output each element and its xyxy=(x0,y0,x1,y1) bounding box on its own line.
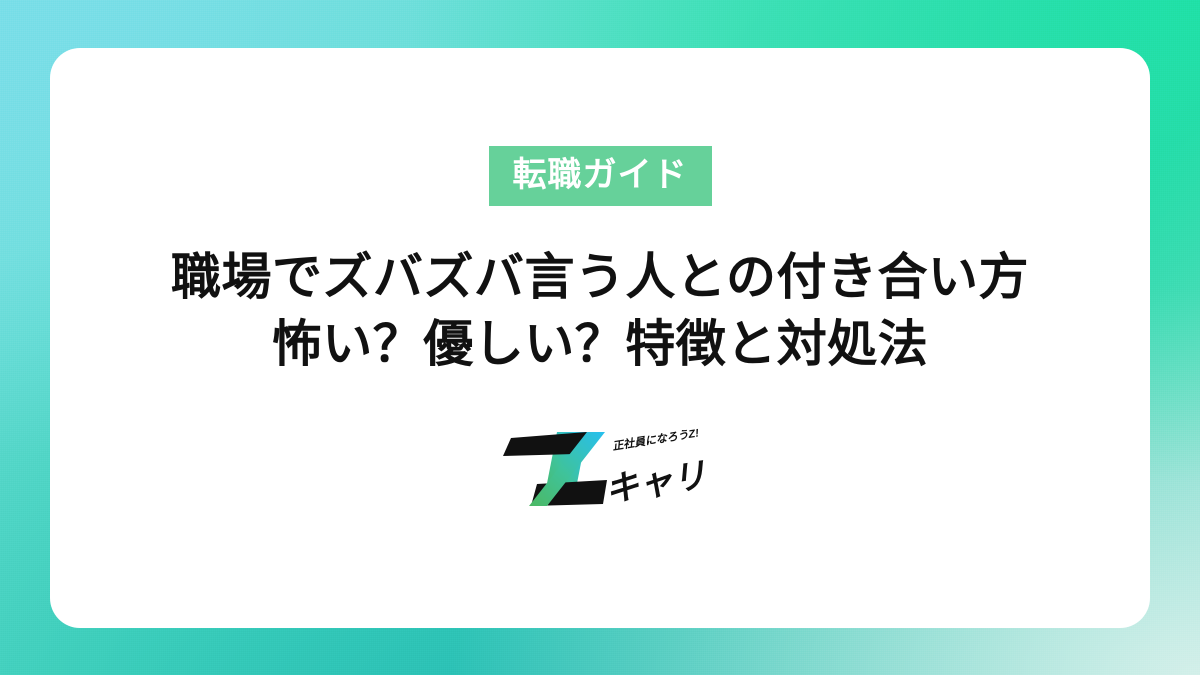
content-card: 転職ガイド 職場でズバズバ言う人との付き合い方 怖い？優しい？特徴と対処法 xyxy=(50,48,1150,628)
page-title-line-2: 怖い？優しい？特徴と対処法 xyxy=(171,311,1029,378)
brand-logo: 正社員になろうZ! キャリア xyxy=(495,426,705,516)
z-mark-icon xyxy=(503,432,607,506)
brand-tagline: 正社員になろうZ! xyxy=(611,426,700,453)
poster-canvas: 転職ガイド 職場でズバズバ言う人との付き合い方 怖い？優しい？特徴と対処法 xyxy=(0,0,1200,675)
page-title: 職場でズバズバ言う人との付き合い方 怖い？優しい？特徴と対処法 xyxy=(171,244,1029,378)
brand-logo-svg: 正社員になろうZ! キャリア xyxy=(495,426,705,516)
brand-wordmark: キャリア xyxy=(602,450,705,510)
page-title-line-1: 職場でズバズバ言う人との付き合い方 xyxy=(171,244,1029,311)
category-badge: 転職ガイド xyxy=(489,146,712,206)
